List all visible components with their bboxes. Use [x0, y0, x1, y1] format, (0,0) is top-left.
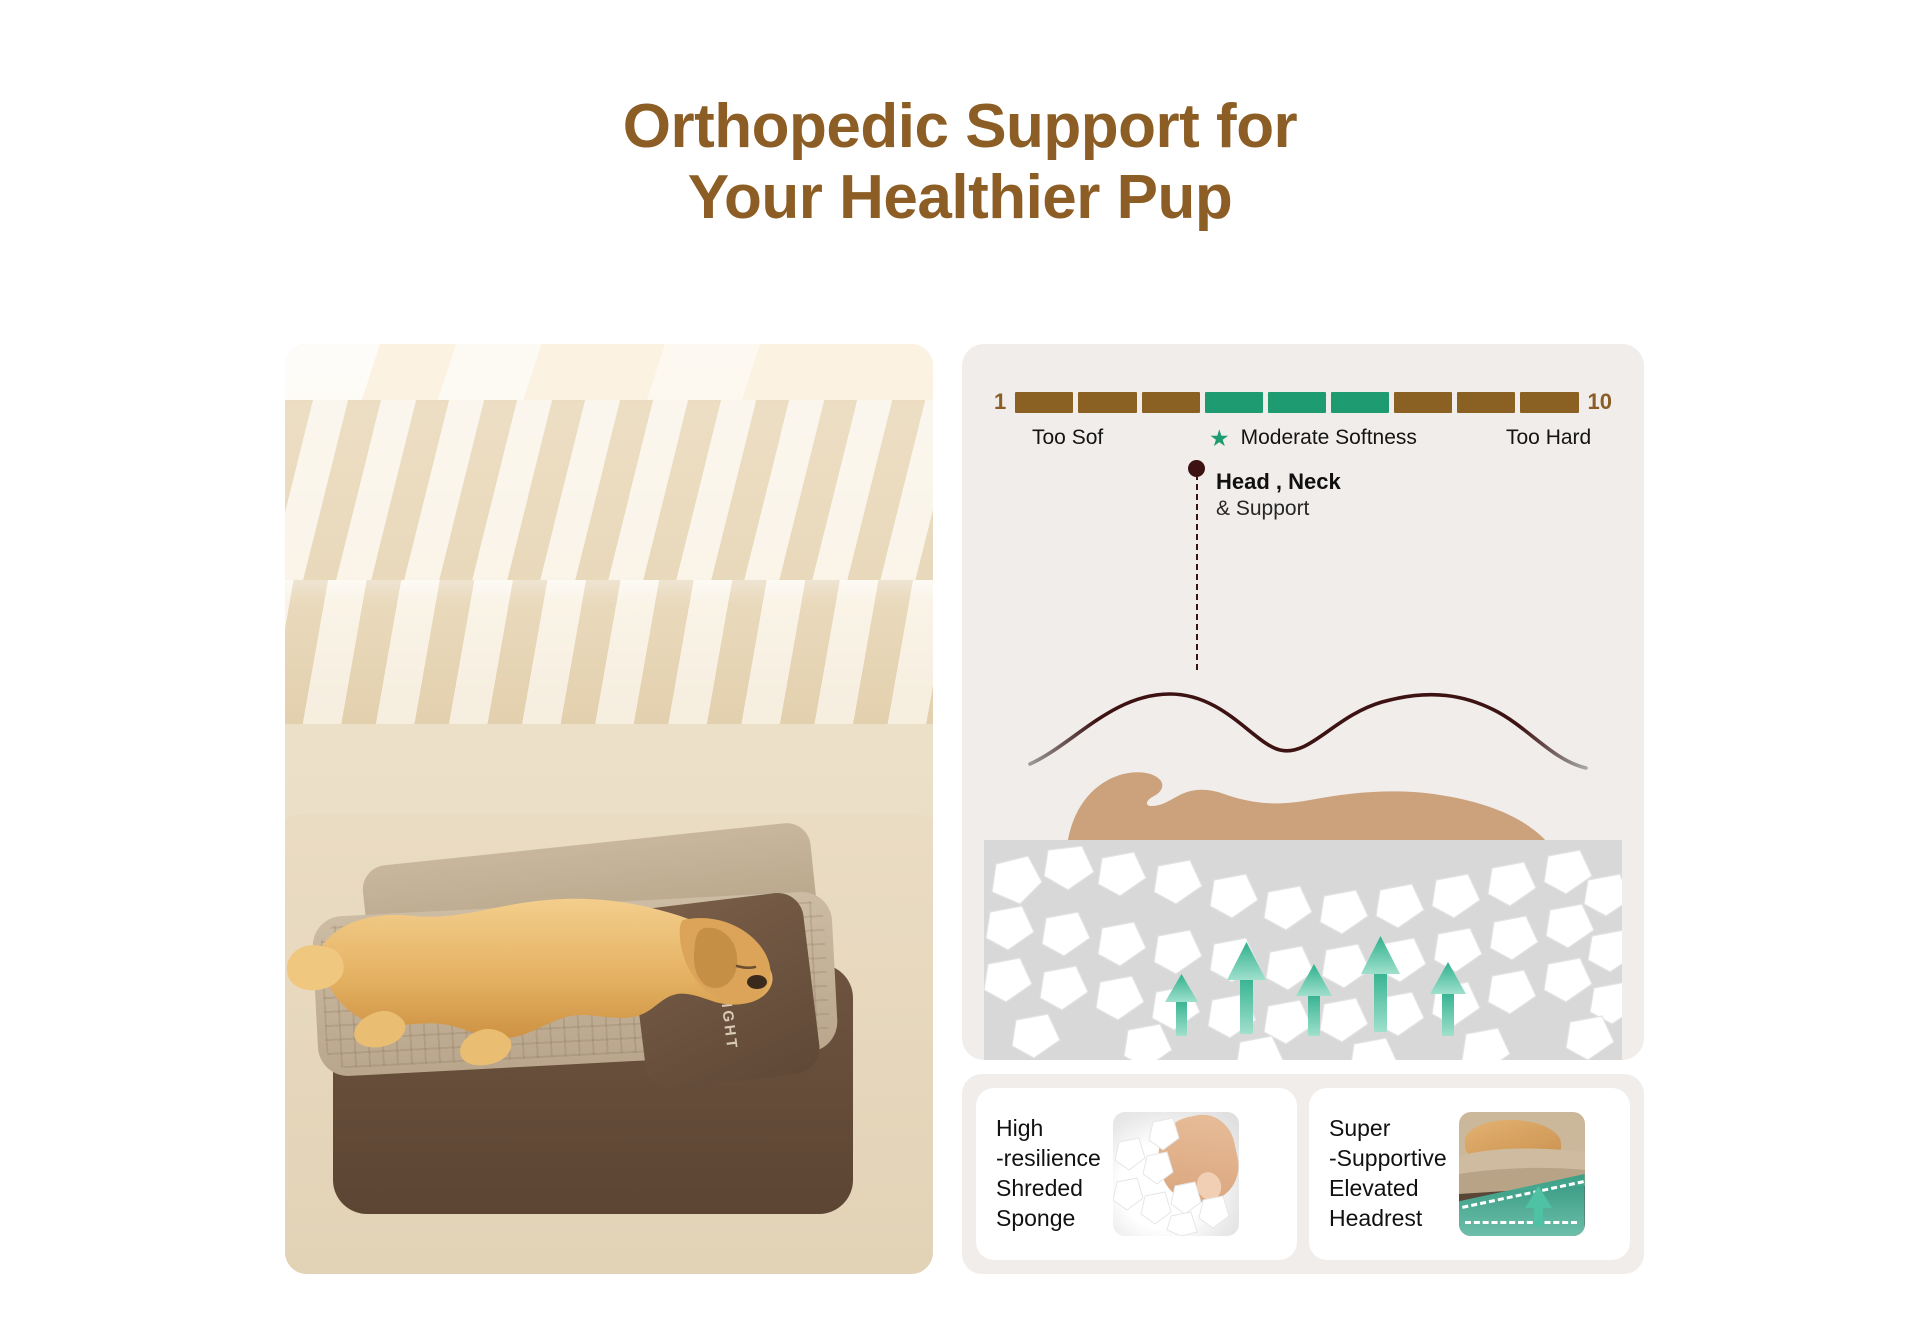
feature-card-label: Super -Supportive Elevated Headrest — [1329, 1114, 1447, 1234]
support-diagram — [962, 344, 1644, 1060]
shredded-sponge-photo — [1113, 1112, 1239, 1236]
foam-cubes-illustration — [1113, 1112, 1239, 1236]
callout-text: Head , Neck & Support — [1216, 468, 1341, 521]
callout-title: Head , Neck — [1216, 469, 1341, 494]
elevated-headrest-photo — [1459, 1112, 1585, 1236]
feature-card-label: High -resilience Shreded Sponge — [996, 1114, 1101, 1234]
title-line-2: Your Healthier Pup — [0, 163, 1920, 234]
feature-card-sponge[interactable]: High -resilience Shreded Sponge — [976, 1088, 1297, 1260]
spine-alignment-curve — [1030, 694, 1586, 768]
product-photo: GOODNIGHT — [285, 344, 933, 1274]
callout-subtitle: & Support — [1216, 497, 1309, 520]
orthopedic-diagram-panel: 1 10 Too Sof ★ Moderate Softness Too Har… — [962, 344, 1644, 1060]
callout-leader-line — [1196, 474, 1198, 670]
feature-card-headrest[interactable]: Super -Supportive Elevated Headrest — [1309, 1088, 1630, 1260]
photo-golden-retriever — [285, 816, 933, 1116]
page-title: Orthopedic Support for Your Healthier Pu… — [0, 92, 1920, 233]
feature-cards: High -resilience Shreded Sponge Super -S… — [962, 1074, 1644, 1274]
title-line-1: Orthopedic Support for — [0, 92, 1920, 163]
elevation-arrow-icon — [1459, 1112, 1585, 1236]
